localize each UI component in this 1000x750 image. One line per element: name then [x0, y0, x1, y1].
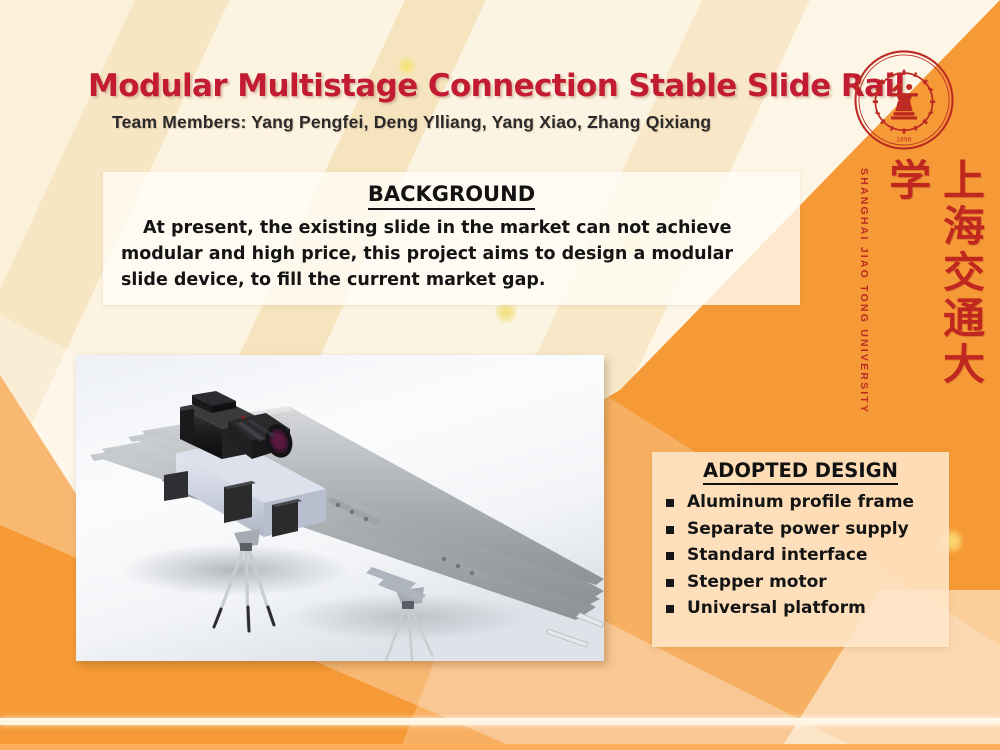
square-bullet-icon	[666, 526, 674, 534]
poster-slide: Modular Multistage Connection Stable Sli…	[0, 0, 1000, 750]
cad-render-illustration	[76, 355, 604, 661]
adopted-design-heading-text: ADOPTED DESIGN	[703, 459, 898, 485]
background-heading: BACKGROUND	[103, 182, 800, 206]
square-bullet-icon	[666, 499, 674, 507]
logo-english-name: SHANGHAI JIAO TONG UNIVERSITY	[858, 168, 870, 414]
square-bullet-icon	[666, 579, 674, 587]
square-bullet-icon	[666, 605, 674, 613]
page-title: Modular Multistage Connection Stable Sli…	[88, 68, 788, 104]
list-item: Universal platform	[666, 595, 949, 622]
list-item: Separate power supply	[666, 516, 949, 543]
list-item: Aluminum profile frame	[666, 489, 949, 516]
list-item-label: Aluminum profile frame	[687, 489, 914, 516]
bottom-orange-edge	[0, 744, 1000, 750]
list-item-label: Separate power supply	[687, 516, 909, 543]
adopted-design-list: Aluminum profile frame Separate power su…	[652, 489, 949, 622]
square-bullet-icon	[666, 552, 674, 560]
bottom-divider-line	[0, 718, 1000, 725]
list-item: Stepper motor	[666, 569, 949, 596]
slide-rail-cad-render	[76, 355, 604, 661]
background-heading-text: BACKGROUND	[368, 182, 535, 210]
list-item-label: Standard interface	[687, 542, 868, 569]
background-body-text: At present, the existing slide in the ma…	[121, 216, 784, 294]
background-text-panel: BACKGROUND At present, the existing slid…	[103, 172, 800, 305]
sjtu-seal-icon: 1896	[852, 48, 956, 152]
svg-text:1896: 1896	[896, 137, 912, 144]
adopted-design-heading: ADOPTED DESIGN	[652, 459, 949, 482]
list-item-label: Universal platform	[687, 595, 866, 622]
adopted-design-panel: ADOPTED DESIGN Aluminum profile frame Se…	[652, 452, 949, 647]
university-logo: 1896 SHANGHAI JIAO TONG UNIVERSITY 上海交通大…	[842, 48, 962, 428]
list-item: Standard interface	[666, 542, 949, 569]
logo-chinese-name: 上海交通大学	[880, 158, 988, 428]
list-item-label: Stepper motor	[687, 569, 827, 596]
team-members-line: Team Members: Yang Pengfei, Deng Ylliang…	[112, 112, 852, 133]
